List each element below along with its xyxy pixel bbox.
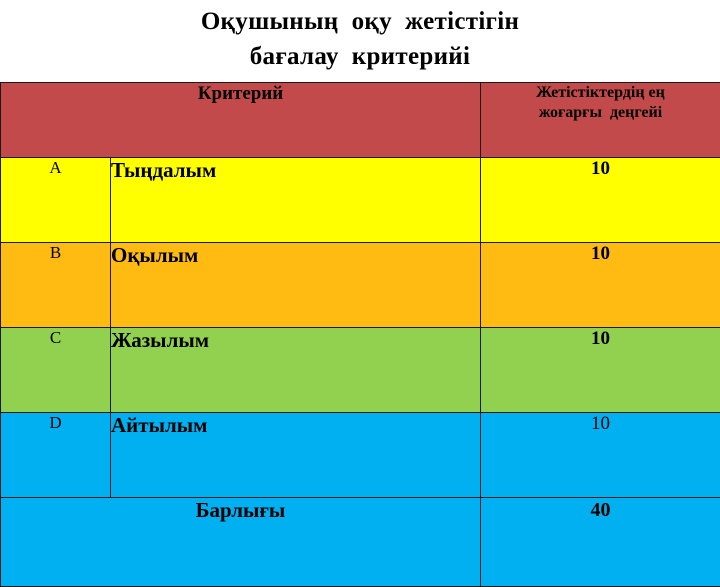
row-criterion-name: Айтылым xyxy=(111,413,481,498)
row-letter: C xyxy=(1,328,111,413)
header-criterion: Критерий xyxy=(1,83,481,158)
page-title: Оқушының оқу жетістігін бағалау критерий… xyxy=(0,4,720,74)
header-max-score: Жетістіктердің ең жоғарғы деңгейі xyxy=(481,83,720,158)
slide-root: Оқушының оқу жетістігін бағалау критерий… xyxy=(0,0,720,540)
row-criterion-name: Оқылым xyxy=(111,243,481,328)
assessment-criteria-table: Критерий Жетістіктердің ең жоғарғы деңге… xyxy=(0,82,720,587)
row-criterion-name: Тыңдалым xyxy=(111,158,481,243)
row-max-score: 10 xyxy=(481,413,720,498)
row-max-score: 10 xyxy=(481,243,720,328)
row-letter: A xyxy=(1,158,111,243)
title-line-1: Оқушының оқу жетістігін xyxy=(0,4,720,39)
row-max-score: 10 xyxy=(481,328,720,413)
header-max-score-line-2: жоғарғы деңгейі xyxy=(481,103,720,123)
total-label: Барлығы xyxy=(1,498,481,587)
title-line-2: бағалау критерийі xyxy=(0,39,720,74)
table-total-row: Барлығы 40 xyxy=(1,498,720,587)
row-criterion-name: Жазылым xyxy=(111,328,481,413)
row-letter: B xyxy=(1,243,111,328)
row-letter: D xyxy=(1,413,111,498)
table-row: C Жазылым 10 xyxy=(1,328,720,413)
table-row: B Оқылым 10 xyxy=(1,243,720,328)
table-header-row: Критерий Жетістіктердің ең жоғарғы деңге… xyxy=(1,83,720,158)
table-row: D Айтылым 10 xyxy=(1,413,720,498)
header-max-score-line-1: Жетістіктердің ең xyxy=(481,83,720,103)
total-score: 40 xyxy=(481,498,720,587)
row-max-score: 10 xyxy=(481,158,720,243)
table-row: A Тыңдалым 10 xyxy=(1,158,720,243)
